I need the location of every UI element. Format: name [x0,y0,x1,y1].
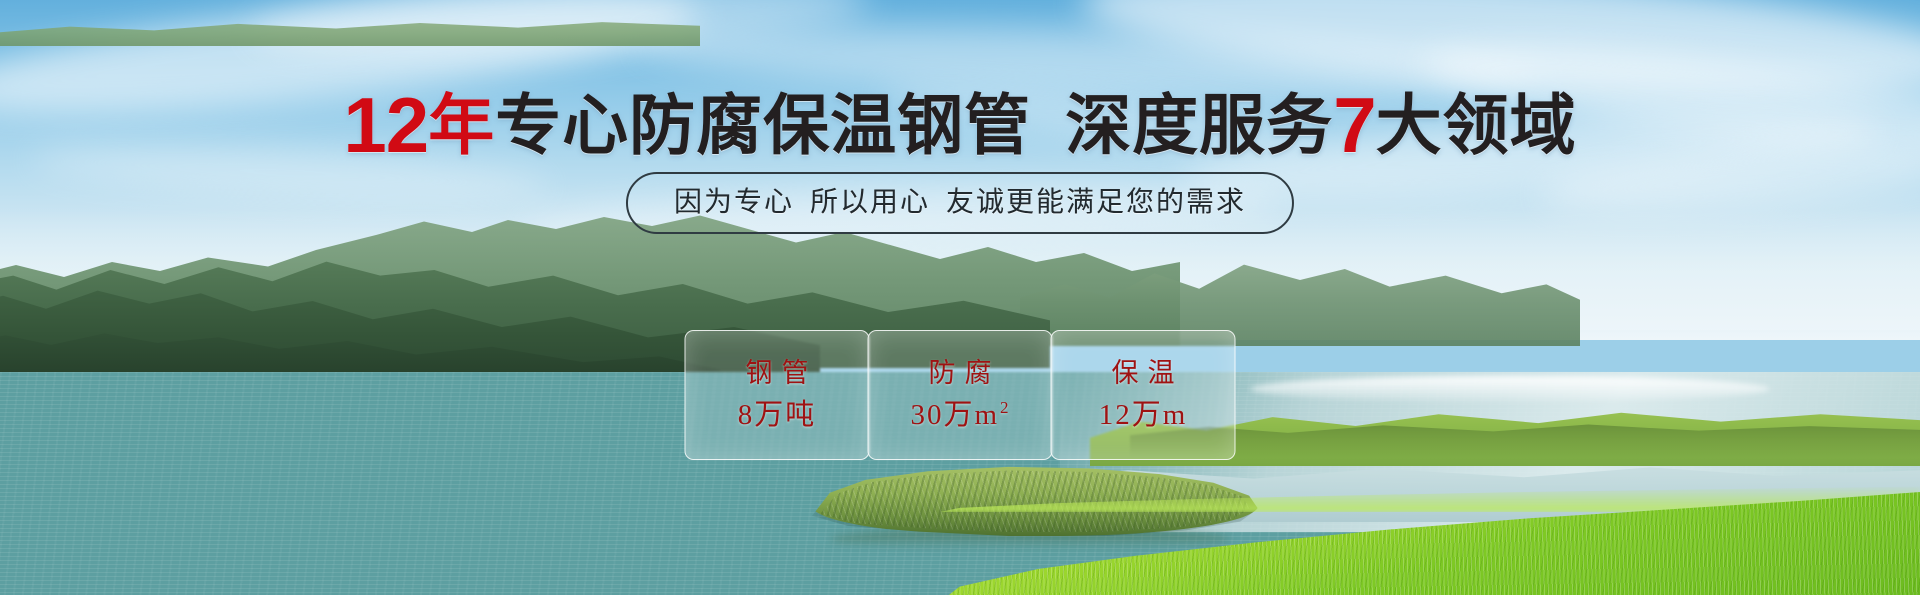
stat-card-value: 30万m2 [910,401,1009,430]
stat-card-steel-pipe[interactable]: 钢管 8万吨 [685,330,870,460]
stat-card-title: 钢管 [737,360,818,387]
stat-card-value-text: 30万m [910,401,999,430]
headline: 12年专心防腐保温钢管深度服务7大领域 [0,86,1920,164]
stat-card-value: 12万m [1099,401,1188,430]
stat-card-value-text: 12万m [1099,401,1188,430]
stat-card-value-text: 8万吨 [738,401,817,430]
banner-content: 12年专心防腐保温钢管深度服务7大领域 因为专心所以用心友诚更能满足您的需求 钢… [0,0,1920,595]
headline-years-unit: 年 [428,88,495,162]
stat-card-insulation[interactable]: 保温 12万m [1051,330,1236,460]
stat-card-value-exponent: 2 [1000,399,1011,416]
stat-card-group: 钢管 8万吨 防腐 30万m2 保温 12万m [685,330,1236,460]
headline-phrase-fields: 大领域 [1376,88,1577,162]
subtitle-pill: 因为专心所以用心友诚更能满足您的需求 [626,172,1294,234]
stat-card-title: 防腐 [920,360,1001,387]
headline-phrase-service: 深度服务 [1065,88,1333,162]
headline-years-number: 12 [343,81,428,169]
promo-banner: 12年专心防腐保温钢管深度服务7大领域 因为专心所以用心友诚更能满足您的需求 钢… [0,0,1920,595]
subtitle-segment-3: 友诚更能满足您的需求 [946,186,1246,217]
headline-fields-number: 7 [1333,81,1375,169]
stat-card-value: 8万吨 [738,401,817,430]
headline-phrase-primary: 专心防腐保温钢管 [495,88,1031,162]
subtitle-segment-2: 所以用心 [810,186,930,217]
subtitle-segment-1: 因为专心 [674,186,794,217]
stat-card-title: 保温 [1103,360,1184,387]
stat-card-anticorrosion[interactable]: 防腐 30万m2 [868,330,1053,460]
